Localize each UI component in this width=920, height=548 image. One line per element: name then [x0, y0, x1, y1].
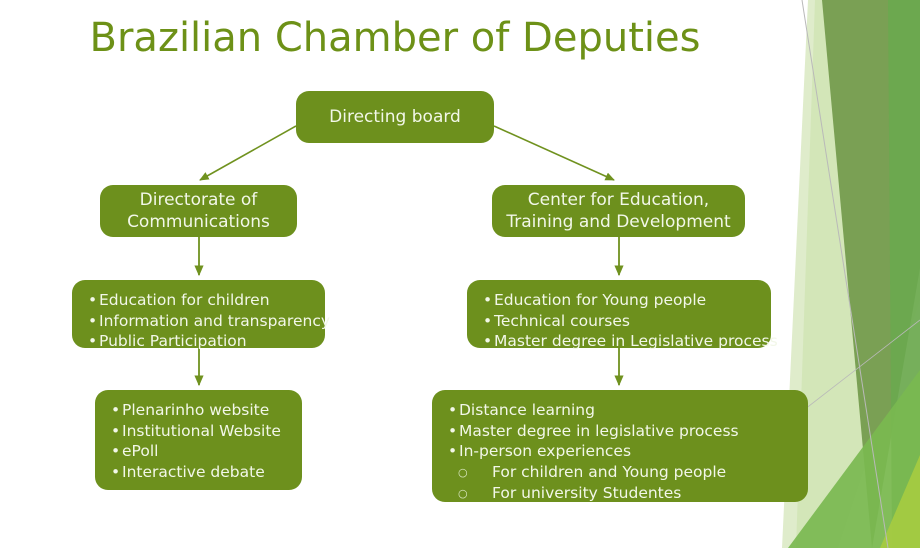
list-item: Public Participation [88, 331, 311, 352]
node-communications-outputs[interactable]: Plenarinho website Institutional Website… [95, 390, 302, 490]
list-item: Information and transparency [88, 311, 311, 332]
list-item: Distance learning [448, 400, 794, 421]
node-communications-responsibilities[interactable]: Education for children Information and t… [72, 280, 325, 348]
list-item: For children and Young people [448, 462, 794, 484]
education-center-outputs-list: Distance learning Master degree in legis… [448, 400, 794, 505]
list-item: Institutional Website [111, 421, 288, 442]
node-center-edu-line2: Training and Development [506, 212, 730, 232]
node-directorate-of-communications[interactable]: Directorate of Communications [100, 185, 297, 237]
list-item: For university Studentes [448, 483, 794, 505]
list-item: Education for Young people [483, 290, 757, 311]
list-item: ePoll [111, 441, 288, 462]
node-education-center-outputs[interactable]: Distance learning Master degree in legis… [432, 390, 808, 502]
node-directing-board[interactable]: Directing board [296, 91, 494, 143]
list-item: Master degree in legislative process [448, 421, 794, 442]
education-center-responsibilities-list: Education for Young people Technical cou… [483, 290, 757, 352]
list-item: Education for children [88, 290, 311, 311]
connector-root-to-education-center [494, 126, 614, 180]
node-directorate-line1: Directorate of [140, 190, 258, 210]
org-chart: Directing board Directorate of Communica… [0, 0, 920, 548]
communications-responsibilities-list: Education for children Information and t… [88, 290, 311, 352]
node-directing-board-label: Directing board [329, 106, 461, 128]
node-center-edu-line1: Center for Education, [528, 190, 709, 210]
list-item: In-person experiences [448, 441, 794, 462]
node-center-for-education[interactable]: Center for Education, Training and Devel… [492, 185, 745, 237]
node-directorate-label: Directorate of Communications [127, 189, 270, 233]
communications-outputs-list: Plenarinho website Institutional Website… [111, 400, 288, 482]
node-education-center-responsibilities[interactable]: Education for Young people Technical cou… [467, 280, 771, 348]
node-center-edu-label: Center for Education, Training and Devel… [506, 189, 730, 233]
connector-root-to-communications [200, 126, 296, 180]
list-item: Plenarinho website [111, 400, 288, 421]
node-directorate-line2: Communications [127, 212, 270, 232]
list-item: Interactive debate [111, 462, 288, 483]
list-item: Technical courses [483, 311, 757, 332]
list-item: Master degree in Legislative process [483, 331, 757, 352]
